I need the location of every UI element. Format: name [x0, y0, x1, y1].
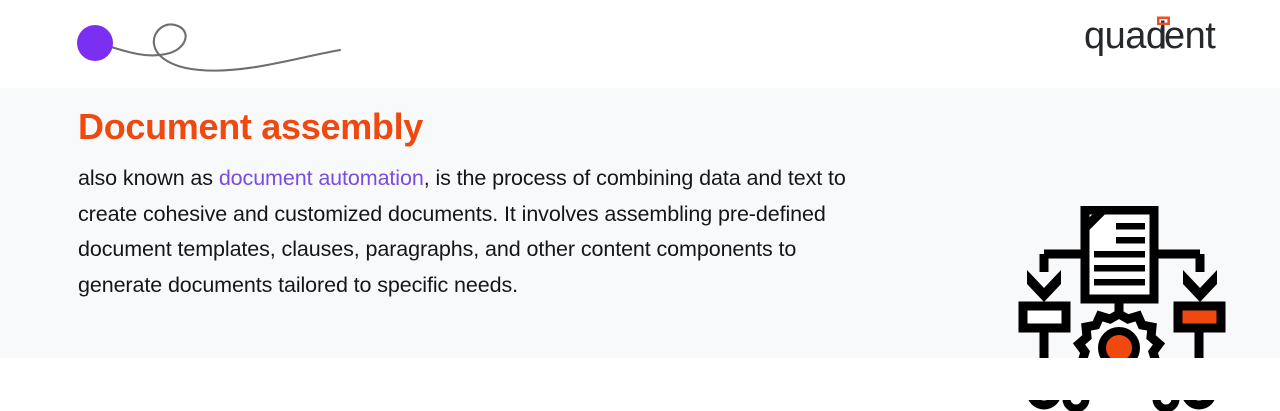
- document-automation-link[interactable]: document automation: [219, 166, 424, 190]
- header-band: quad ent: [0, 0, 1280, 88]
- body-paragraph: also known as document automation, is th…: [78, 149, 868, 303]
- body-lead-text: also known as: [78, 166, 219, 190]
- page-root: quad ent Document assembly also known as…: [0, 0, 1280, 400]
- content-band: Document assembly also known as document…: [0, 88, 1280, 358]
- purple-dot-swoosh-icon: [70, 6, 360, 78]
- svg-text:ent: ent: [1164, 15, 1216, 57]
- quadient-logo[interactable]: quad ent: [1084, 13, 1234, 61]
- footer-band: [0, 358, 1280, 400]
- page-title: Document assembly: [78, 105, 878, 149]
- text-column: Document assembly also known as document…: [78, 105, 878, 303]
- svg-text:quad: quad: [1084, 15, 1167, 57]
